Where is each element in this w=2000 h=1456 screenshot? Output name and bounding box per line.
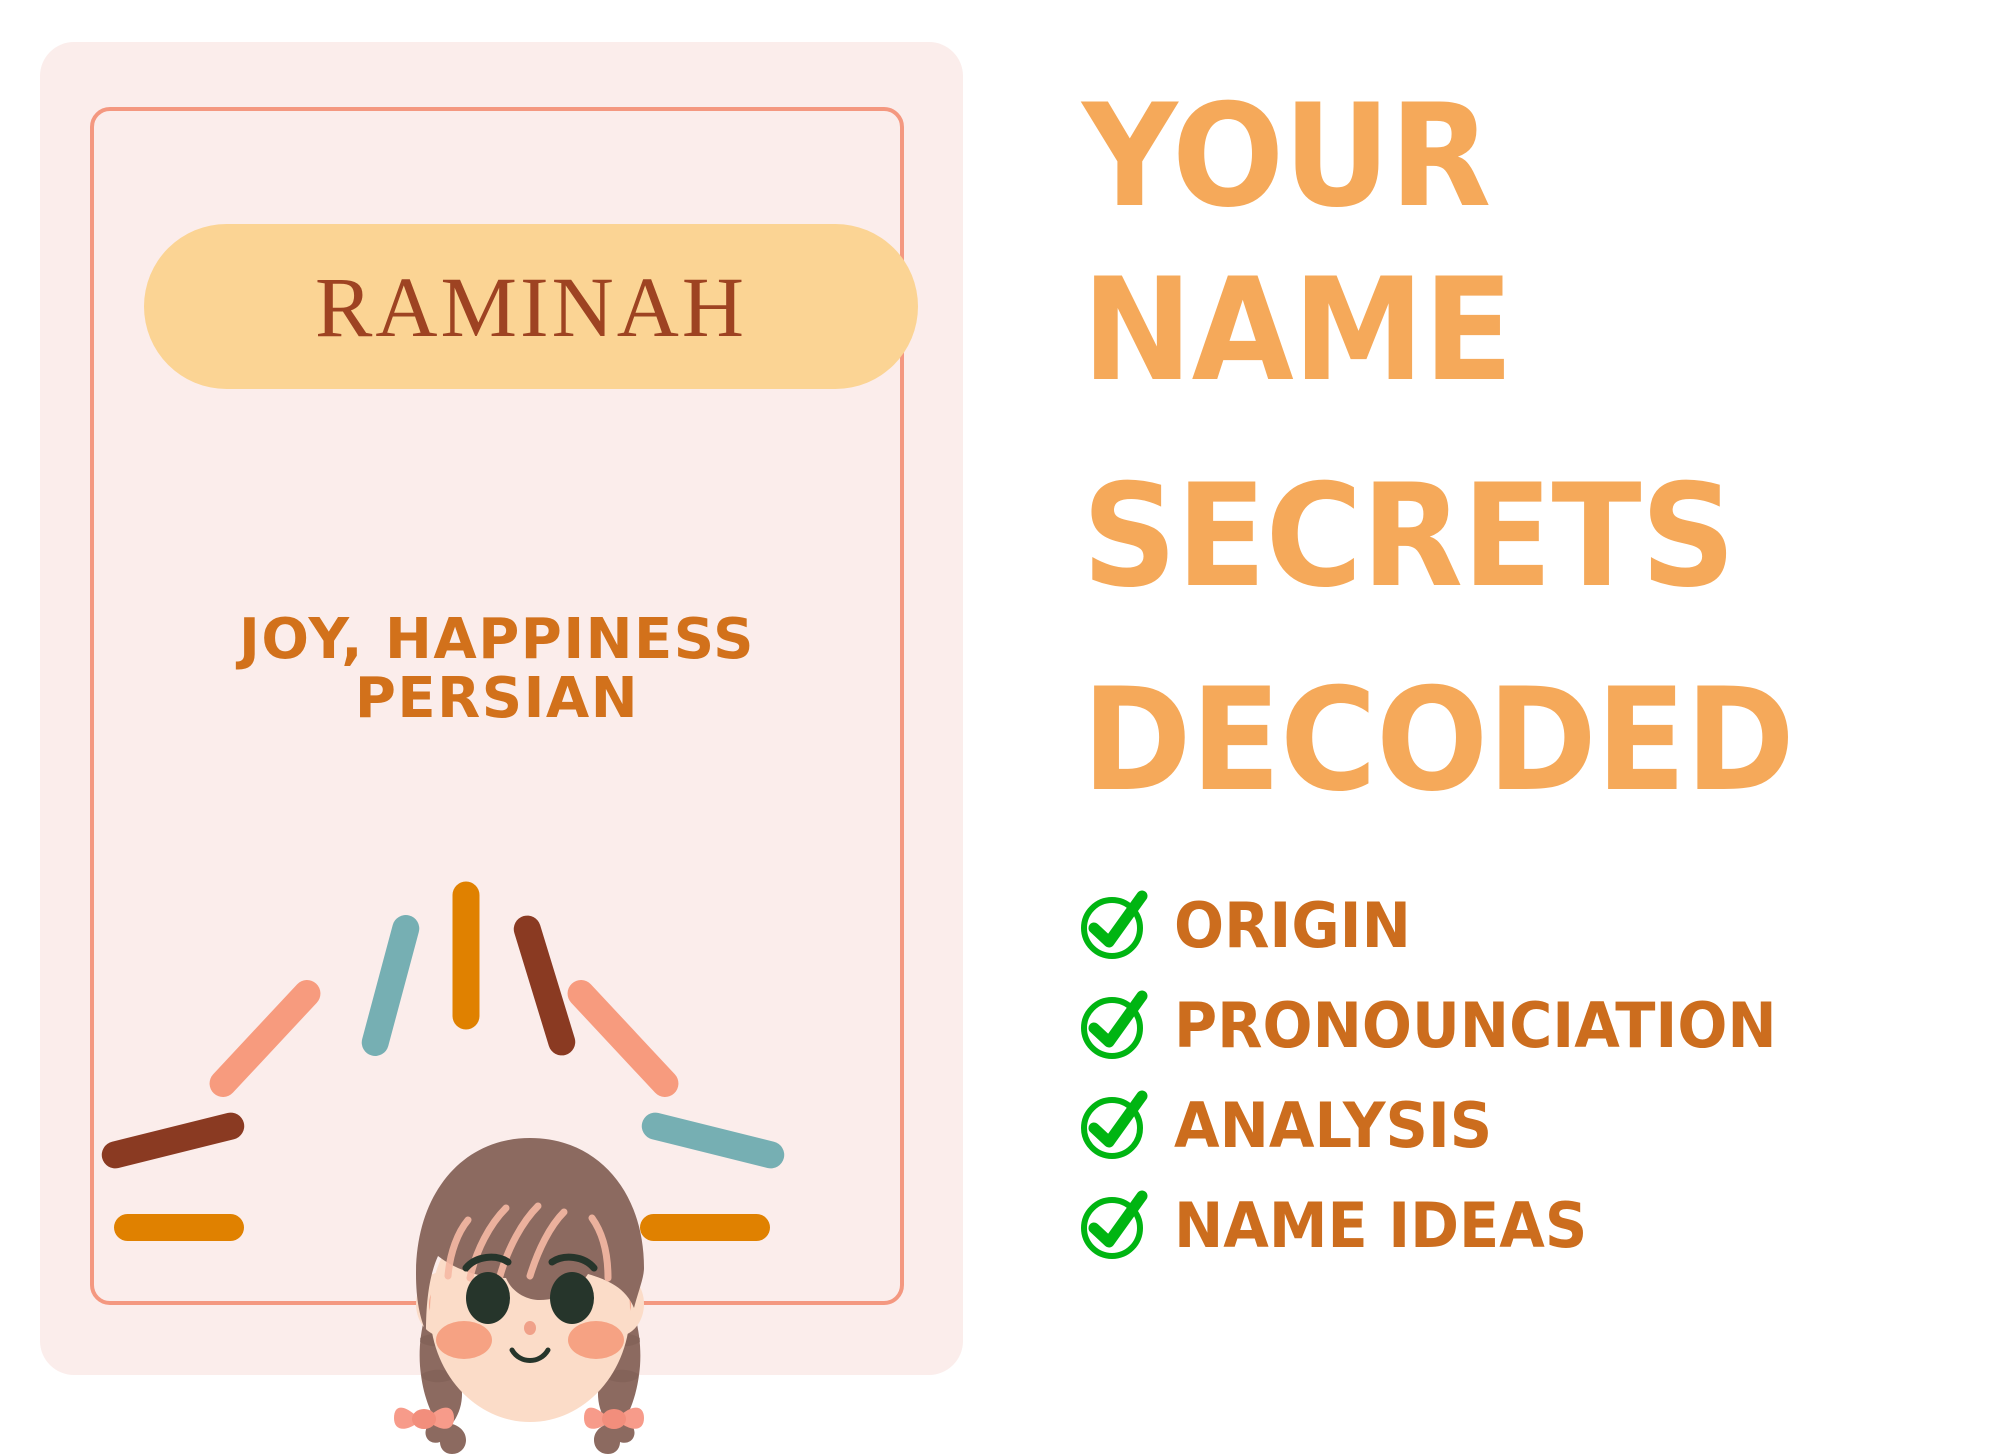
- ray-left-3: [204, 974, 326, 1102]
- checklist-item[interactable]: ORIGIN: [1060, 878, 2000, 974]
- bow-right: [584, 1408, 644, 1429]
- ray-left-1: [114, 1214, 244, 1241]
- headline-line-4: DECODED: [1082, 670, 1794, 812]
- checklist-item-label: NAME IDEAS: [1174, 1195, 1587, 1257]
- nose: [524, 1321, 536, 1335]
- headline-line-1: YOUR: [1082, 86, 1490, 228]
- meaning-block: JOY, HAPPINESS PERSIAN: [90, 610, 904, 729]
- check-circle-icon: [1078, 1090, 1150, 1162]
- feature-checklist: ORIGINPRONOUNCIATIONANALYSISNAME IDEAS: [1060, 878, 2000, 1278]
- cheek-left: [436, 1321, 492, 1359]
- right-panel: YOUR NAME SECRETS DECODED ORIGINPRONOUNC…: [1060, 0, 2000, 1414]
- ray-center: [453, 882, 480, 1030]
- name-badge: RAMINAH: [144, 224, 918, 389]
- headline-line-3: SECRETS: [1082, 466, 1735, 608]
- bow-left: [394, 1408, 454, 1429]
- check-circle-icon: [1078, 1190, 1150, 1262]
- name-text: RAMINAH: [315, 264, 747, 350]
- headline-line-2: NAME: [1082, 260, 1513, 402]
- meaning-line-2: PERSIAN: [90, 669, 904, 728]
- eye-left: [466, 1272, 510, 1324]
- checklist-item[interactable]: ANALYSIS: [1060, 1078, 2000, 1174]
- ray-right-3: [562, 974, 684, 1102]
- check-circle-icon: [1078, 990, 1150, 1062]
- name-card: RAMINAH JOY, HAPPINESS PERSIAN: [40, 42, 963, 1375]
- ray-center-left-teal: [359, 912, 423, 1059]
- checklist-item[interactable]: NAME IDEAS: [1060, 1178, 2000, 1274]
- checklist-item-label: ANALYSIS: [1174, 1095, 1492, 1157]
- meaning-line-1: JOY, HAPPINESS: [90, 610, 904, 669]
- cheek-right: [568, 1321, 624, 1359]
- checklist-item-label: ORIGIN: [1174, 895, 1411, 957]
- checklist-item[interactable]: PRONOUNCIATION: [1060, 978, 2000, 1074]
- check-circle-icon: [1078, 890, 1150, 962]
- checklist-item-label: PRONOUNCIATION: [1174, 995, 1777, 1057]
- ray-left-2: [99, 1110, 247, 1172]
- girl-illustration: [370, 1128, 690, 1456]
- eye-right: [550, 1272, 594, 1324]
